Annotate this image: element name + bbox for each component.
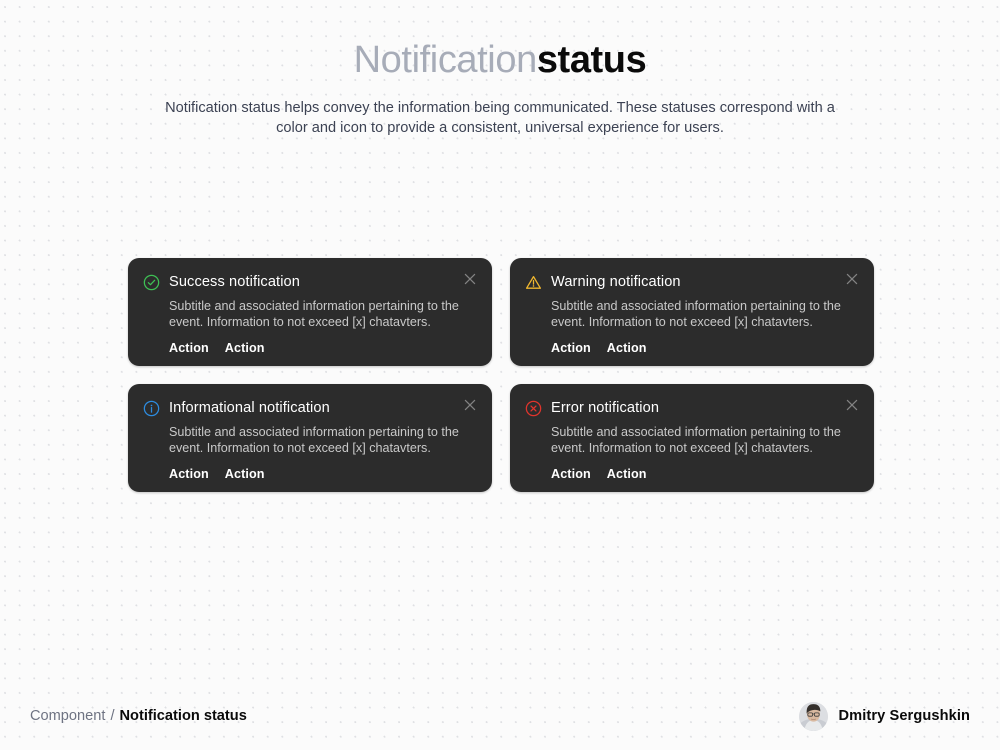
action-button-secondary[interactable]: Action: [607, 341, 647, 356]
notification-card-error[interactable]: Error notification Subtitle and associat…: [510, 384, 874, 492]
warning-triangle-icon: [525, 274, 542, 291]
action-button-secondary[interactable]: Action: [225, 341, 265, 356]
card-body-text: Subtitle and associated information pert…: [551, 425, 851, 456]
notification-card-success[interactable]: Success notification Subtitle and associ…: [128, 258, 492, 366]
card-body-text: Subtitle and associated information pert…: [551, 299, 851, 330]
card-body-text: Subtitle and associated information pert…: [169, 425, 469, 456]
action-button-primary[interactable]: Action: [169, 341, 209, 356]
close-icon[interactable]: [462, 271, 478, 287]
author-credit: Dmitry Sergushkin: [799, 702, 970, 731]
page-title-strong: status: [537, 39, 647, 81]
notification-cards-grid: Success notification Subtitle and associ…: [128, 258, 874, 492]
page-header: Notificationstatus Notification status h…: [0, 0, 1000, 138]
page-subtitle: Notification status helps convey the inf…: [150, 99, 850, 138]
card-title: Success notification: [169, 274, 300, 291]
card-body-text: Subtitle and associated information pert…: [169, 299, 469, 330]
card-actions: Action Action: [169, 341, 476, 356]
card-header: Informational notification: [143, 398, 476, 418]
breadcrumb-current: Notification status: [120, 707, 247, 725]
page-title: Notificationstatus: [0, 38, 1000, 82]
card-title: Warning notification: [551, 274, 681, 291]
breadcrumb-parent[interactable]: Component: [30, 707, 105, 725]
circle-x-icon: [525, 400, 542, 417]
card-actions: Action Action: [551, 467, 858, 482]
card-header: Warning notification: [525, 272, 858, 292]
close-icon[interactable]: [844, 397, 860, 413]
card-header: Success notification: [143, 272, 476, 292]
card-title: Error notification: [551, 400, 659, 417]
breadcrumb-separator: /: [110, 707, 114, 725]
avatar: [799, 702, 828, 731]
card-actions: Action Action: [169, 467, 476, 482]
notification-card-warning[interactable]: Warning notification Subtitle and associ…: [510, 258, 874, 366]
page-footer: Component / Notification status: [0, 682, 1000, 750]
breadcrumb: Component / Notification status: [30, 707, 247, 725]
page-title-muted: Notification: [354, 39, 537, 81]
action-button-primary[interactable]: Action: [169, 467, 209, 482]
card-header: Error notification: [525, 398, 858, 418]
action-button-primary[interactable]: Action: [551, 467, 591, 482]
notification-card-informational[interactable]: Informational notification Subtitle and …: [128, 384, 492, 492]
action-button-primary[interactable]: Action: [551, 341, 591, 356]
circle-check-icon: [143, 274, 160, 291]
author-name: Dmitry Sergushkin: [839, 707, 970, 725]
card-actions: Action Action: [551, 341, 858, 356]
close-icon[interactable]: [844, 271, 860, 287]
action-button-secondary[interactable]: Action: [607, 467, 647, 482]
card-title: Informational notification: [169, 400, 330, 417]
close-icon[interactable]: [462, 397, 478, 413]
action-button-secondary[interactable]: Action: [225, 467, 265, 482]
circle-info-icon: [143, 400, 160, 417]
